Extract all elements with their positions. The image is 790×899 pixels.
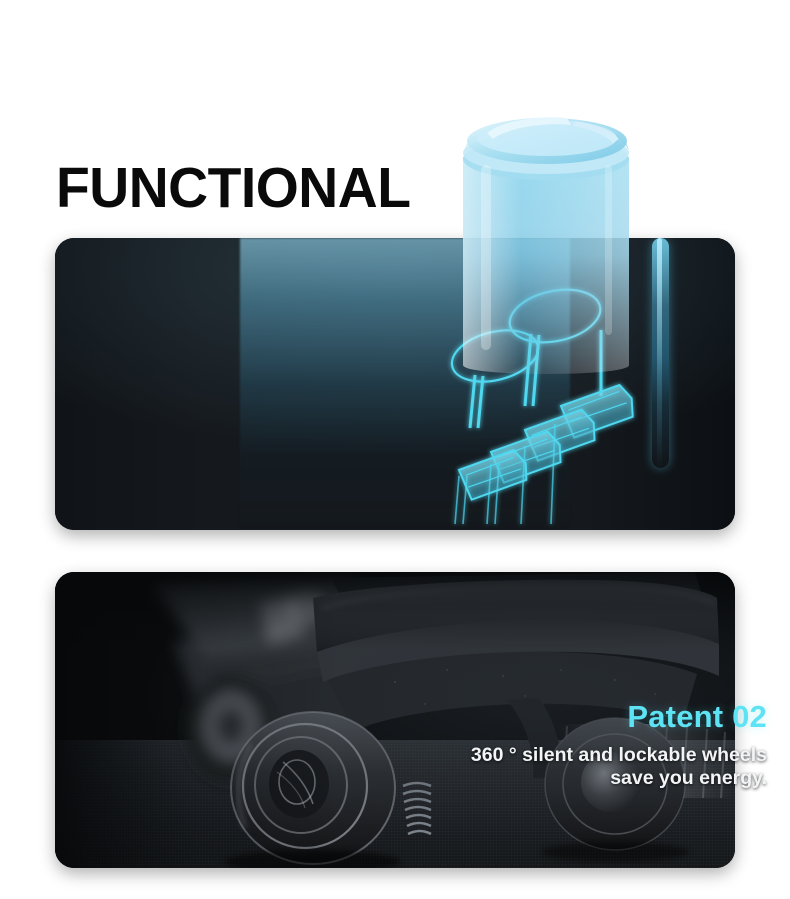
patent-02-body: 360 ° silent and lockable wheels save yo… <box>110 744 767 789</box>
product-feature-page: FUNCTIONAL FEATURES <box>0 0 790 899</box>
page-title-line-1: FUNCTIONAL <box>56 158 410 218</box>
retractable-cover-image <box>455 115 637 383</box>
patent-02-text: Patent 02 360 ° silent and lockable whee… <box>110 700 790 789</box>
patent-02-title: Patent 02 <box>110 700 767 734</box>
